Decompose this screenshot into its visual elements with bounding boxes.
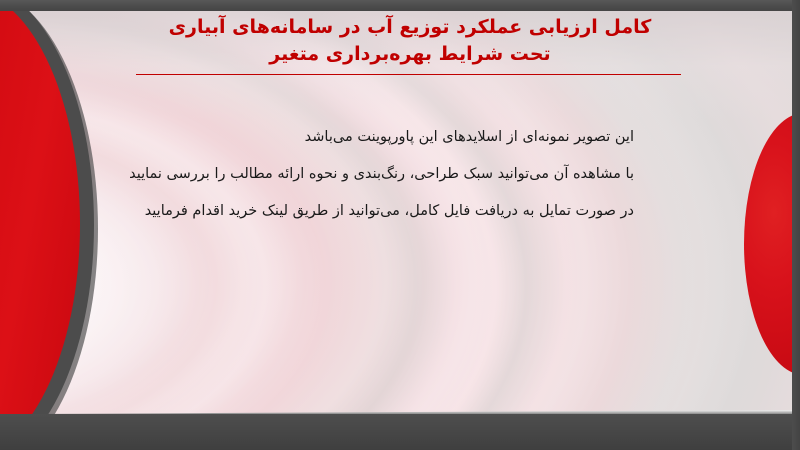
panel-top-highlight <box>0 0 800 120</box>
frame-top-band <box>0 0 800 11</box>
frame-right-band <box>792 0 800 450</box>
slide-canvas: کامل ارزیابی عملکرد توزیع آب در سامانه‌ه… <box>0 0 800 450</box>
content-panel <box>0 0 800 450</box>
frame-bottom-band <box>0 414 800 450</box>
